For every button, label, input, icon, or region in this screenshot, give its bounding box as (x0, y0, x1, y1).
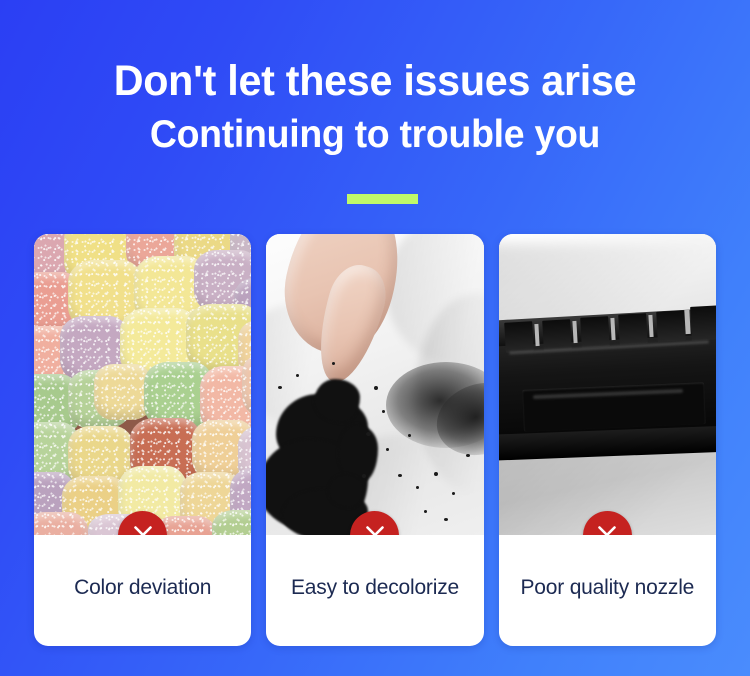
card-caption: Color deviation (34, 535, 251, 646)
card-caption: Poor quality nozzle (499, 535, 716, 646)
card-photo-nozzle (499, 234, 716, 535)
issue-card[interactable]: Poor quality nozzle (499, 234, 716, 646)
nozzle-photo-art (499, 234, 716, 535)
card-photo-decolorize (266, 234, 483, 535)
headline-line-2: Continuing to trouble you (15, 112, 735, 158)
issue-card[interactable]: Color deviation (34, 234, 251, 646)
card-photo-color-deviation (34, 234, 251, 535)
headline-line-1: Don't let these issues arise (15, 56, 735, 106)
accent-divider-bar (347, 194, 418, 204)
card-caption: Easy to decolorize (266, 535, 483, 646)
candy-photo-art (34, 234, 251, 535)
cloth-photo-art (266, 234, 483, 535)
issue-card-list: Color deviation (34, 234, 716, 646)
promo-poster: Don't let these issues arise Continuing … (0, 0, 750, 676)
headline-block: Don't let these issues arise Continuing … (0, 56, 750, 158)
issue-card[interactable]: Easy to decolorize (266, 234, 483, 646)
